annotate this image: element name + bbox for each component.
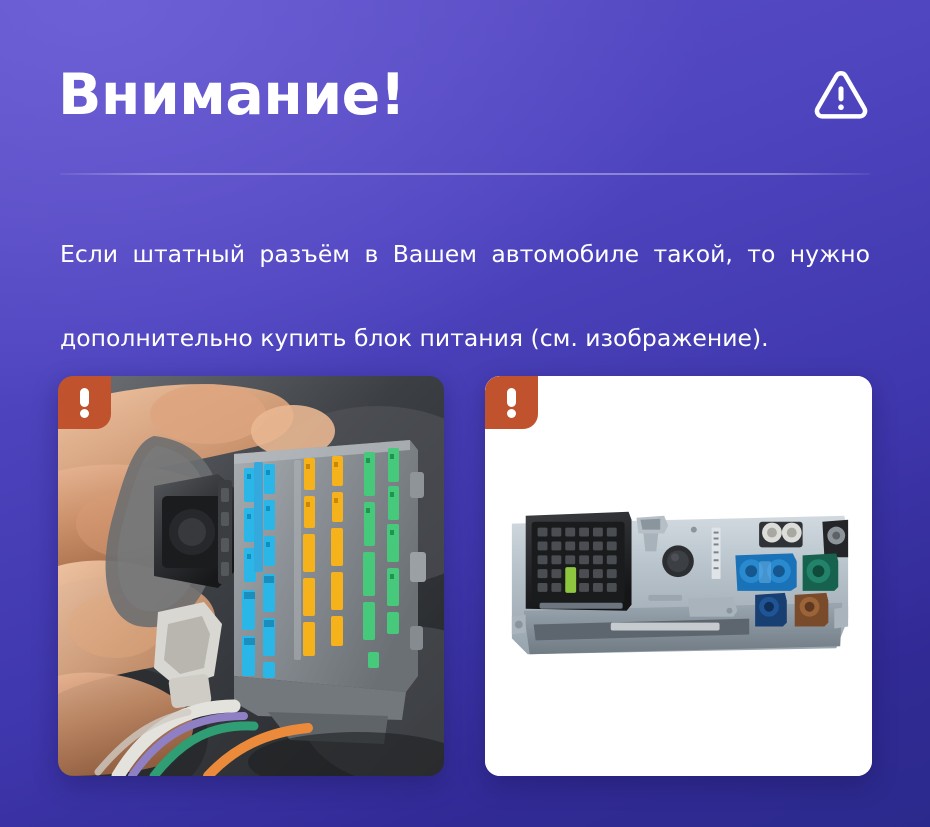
exclamation-icon	[80, 388, 89, 418]
body-text-line-2: дополнительно купить блок питания (см. и…	[60, 317, 870, 359]
power-supply-photo	[485, 376, 872, 776]
body-text-line-1: Если штатный разъём в Вашем автомобиле т…	[60, 233, 870, 317]
body-text: Если штатный разъём в Вашем автомобиле т…	[60, 233, 870, 359]
power-supply-card[interactable]	[485, 376, 872, 776]
banner-header: Внимание!	[58, 48, 872, 144]
warning-banner: Внимание! Если штатный разъём в Вашем ав…	[0, 0, 930, 827]
warning-badge	[58, 376, 111, 429]
stock-connector-photo	[58, 376, 444, 776]
page-title: Внимание!	[58, 66, 405, 126]
stock-connector-card[interactable]	[58, 376, 444, 776]
image-cards	[58, 376, 872, 776]
warning-badge	[485, 376, 538, 429]
warning-triangle-icon	[810, 65, 872, 127]
exclamation-icon	[507, 388, 516, 418]
header-divider	[60, 173, 870, 175]
